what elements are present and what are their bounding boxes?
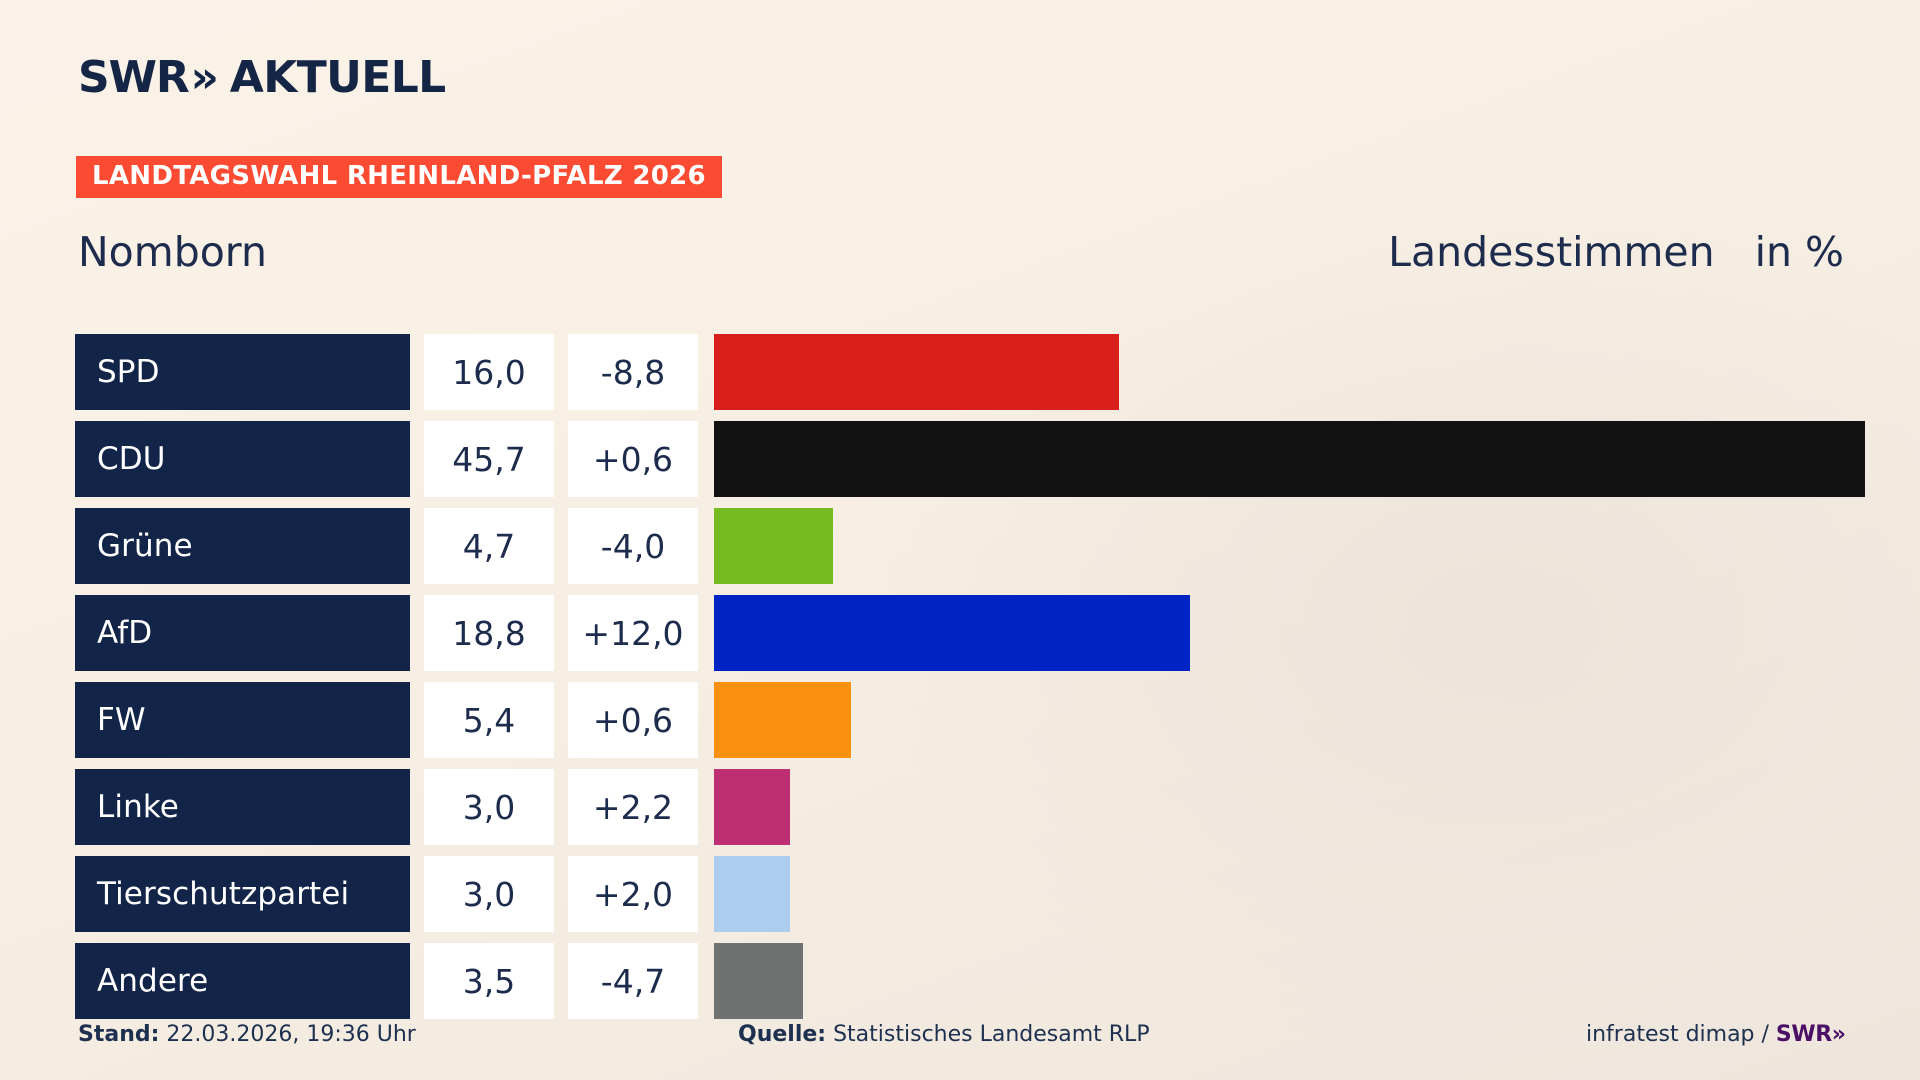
- infographic-root: SWR » AKTUELL LANDTAGSWAHL RHEINLAND-PFA…: [0, 0, 1920, 1080]
- stand-value: 22.03.2026, 19:36 Uhr: [166, 1022, 415, 1047]
- table-row: SPD16,0-8,8: [75, 334, 1865, 410]
- stand-label: Stand:: [78, 1022, 159, 1047]
- party-change-cell: +0,6: [568, 421, 698, 497]
- party-result-cell: 45,7: [424, 421, 554, 497]
- swr-wordmark: SWR: [78, 56, 189, 100]
- bar-track: [714, 421, 1865, 497]
- party-result-cell: 5,4: [424, 682, 554, 758]
- bar-track: [714, 769, 1865, 845]
- election-kicker-badge: LANDTAGSWAHL RHEINLAND-PFALZ 2026: [76, 156, 722, 198]
- party-result-cell: 16,0: [424, 334, 554, 410]
- party-name-cell: SPD: [75, 334, 410, 410]
- credit-chevron-double-right-icon: »: [1832, 1022, 1844, 1047]
- swr-aktuell-logo: SWR » AKTUELL: [78, 56, 446, 100]
- subheader: Nomborn Landesstimmen in %: [78, 228, 1844, 276]
- credit-block: infratest dimap / SWR»: [1438, 1022, 1844, 1047]
- quelle-block: Quelle: Statistisches Landesamt RLP: [738, 1022, 1438, 1047]
- bar-track: [714, 508, 1865, 584]
- bar-track: [714, 856, 1865, 932]
- party-change-cell: -4,7: [568, 943, 698, 1019]
- unit-label: in %: [1755, 228, 1844, 276]
- result-bar: [714, 856, 790, 932]
- vote-type-group: Landesstimmen in %: [1388, 228, 1844, 276]
- table-row: Linke3,0+2,2: [75, 769, 1865, 845]
- party-result-cell: 3,0: [424, 856, 554, 932]
- bar-track: [714, 595, 1865, 671]
- table-row: Andere3,5-4,7: [75, 943, 1865, 1019]
- quelle-label: Quelle:: [738, 1022, 826, 1047]
- party-result-cell: 3,0: [424, 769, 554, 845]
- party-name-cell: Linke: [75, 769, 410, 845]
- party-name-cell: Tierschutzpartei: [75, 856, 410, 932]
- table-row: AfD18,8+12,0: [75, 595, 1865, 671]
- result-bar: [714, 943, 803, 1019]
- party-name-cell: AfD: [75, 595, 410, 671]
- bar-track: [714, 334, 1865, 410]
- party-result-cell: 4,7: [424, 508, 554, 584]
- party-change-cell: -4,0: [568, 508, 698, 584]
- result-bar: [714, 334, 1119, 410]
- results-table: SPD16,0-8,8CDU45,7+0,6Grüne4,7-4,0AfD18,…: [75, 334, 1865, 1030]
- result-bar: [714, 682, 851, 758]
- bar-track: [714, 943, 1865, 1019]
- party-change-cell: +12,0: [568, 595, 698, 671]
- party-change-cell: -8,8: [568, 334, 698, 410]
- result-bar: [714, 595, 1190, 671]
- quelle-value: Statistisches Landesamt RLP: [833, 1022, 1150, 1047]
- party-name-cell: FW: [75, 682, 410, 758]
- chevron-double-right-icon: »: [191, 56, 218, 100]
- table-row: FW5,4+0,6: [75, 682, 1865, 758]
- party-name-cell: CDU: [75, 421, 410, 497]
- party-name-cell: Andere: [75, 943, 410, 1019]
- footer: Stand: 22.03.2026, 19:36 Uhr Quelle: Sta…: [78, 1022, 1844, 1047]
- table-row: Grüne4,7-4,0: [75, 508, 1865, 584]
- credit-swr-wordmark: SWR: [1776, 1022, 1832, 1047]
- vote-type-label: Landesstimmen: [1388, 228, 1714, 276]
- result-bar: [714, 769, 790, 845]
- table-row: Tierschutzpartei3,0+2,0: [75, 856, 1865, 932]
- party-change-cell: +2,0: [568, 856, 698, 932]
- aktuell-wordmark: AKTUELL: [230, 56, 446, 100]
- party-name-cell: Grüne: [75, 508, 410, 584]
- party-result-cell: 3,5: [424, 943, 554, 1019]
- result-bar: [714, 508, 833, 584]
- municipality-name: Nomborn: [78, 228, 267, 276]
- bar-track: [714, 682, 1865, 758]
- credit-agency: infratest dimap /: [1586, 1022, 1776, 1047]
- result-bar: [714, 421, 1865, 497]
- table-row: CDU45,7+0,6: [75, 421, 1865, 497]
- stand-block: Stand: 22.03.2026, 19:36 Uhr: [78, 1022, 738, 1047]
- party-change-cell: +2,2: [568, 769, 698, 845]
- party-change-cell: +0,6: [568, 682, 698, 758]
- party-result-cell: 18,8: [424, 595, 554, 671]
